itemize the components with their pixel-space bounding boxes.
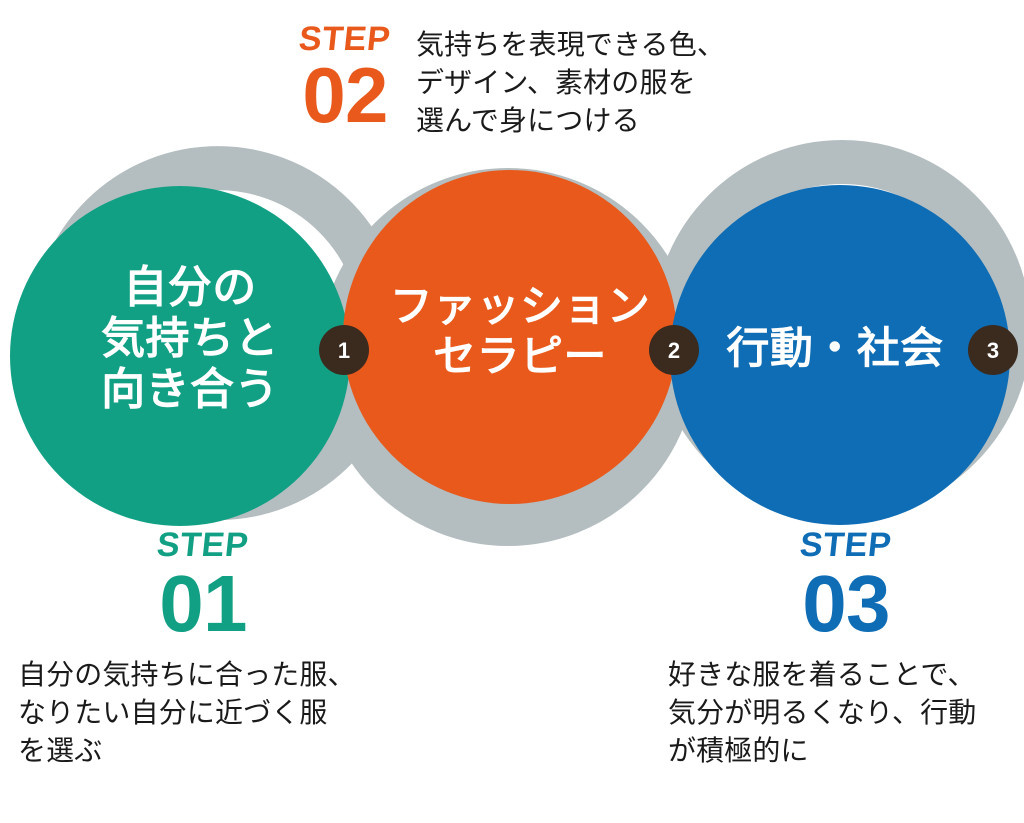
badge-2[interactable]: 2	[649, 325, 699, 375]
step-01-word: STEP	[155, 528, 250, 562]
step-03-label: STEP 03	[668, 528, 1024, 642]
step-02-word: STEP	[297, 22, 392, 56]
circle-blue[interactable]	[670, 185, 1010, 525]
circle-teal[interactable]	[10, 186, 350, 526]
step-01-block: STEP 01 自分の気持ちに合った服、 なりたい自分に近づく服 を選ぶ	[18, 528, 418, 770]
step-02-block: STEP 02 気持ちを表現できる色、 デザイン、素材の服を 選んで身につける	[296, 22, 996, 140]
step-03-description: 好きな服を着ることで、 気分が明るくなり、行動 が積極的に	[668, 656, 1024, 770]
step-01-description: 自分の気持ちに合った服、 なりたい自分に近づく服 を選ぶ	[18, 656, 418, 770]
step-01-number: 01	[18, 566, 388, 642]
badge-1[interactable]: 1	[319, 325, 369, 375]
step-02-number: 02	[296, 58, 394, 132]
step-02-description: 気持ちを表現できる色、 デザイン、素材の服を 選んで身につける	[416, 22, 725, 140]
badge-2-label: 2	[668, 338, 680, 363]
step-03-number: 03	[668, 566, 1024, 642]
step-03-block: STEP 03 好きな服を着ることで、 気分が明るくなり、行動 が積極的に	[668, 528, 1024, 770]
circle-orange[interactable]	[343, 170, 677, 504]
infographic-canvas: 1 2 3 自分の 気持ちと 向き合う ファッション セラピー 行動・社会 ST…	[0, 0, 1024, 823]
step-03-word: STEP	[798, 528, 893, 562]
badge-3[interactable]: 3	[968, 325, 1018, 375]
step-01-label: STEP 01	[18, 528, 388, 642]
badge-3-label: 3	[987, 338, 999, 363]
badge-1-label: 1	[338, 338, 350, 363]
step-02-label: STEP 02	[296, 22, 394, 132]
